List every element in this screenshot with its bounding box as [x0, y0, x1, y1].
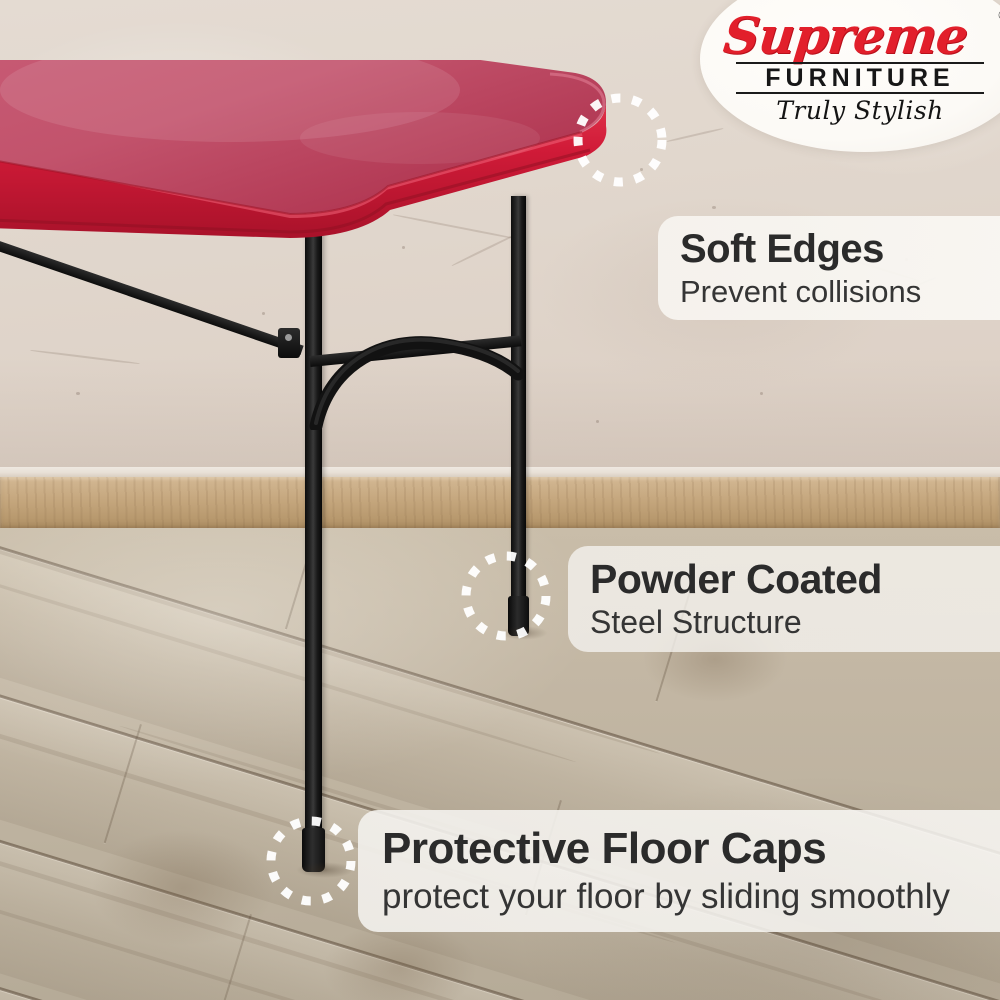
callout-title-soft-edges: Soft Edges [680, 228, 1000, 270]
wall-trim [0, 467, 1000, 477]
callout-subtitle-soft-edges: Prevent collisions [680, 275, 1000, 308]
brand-category-furniture: FURNITURE [736, 64, 984, 93]
logo-divider-bottom [736, 92, 984, 94]
brand-tagline: Truly Stylish [736, 96, 984, 125]
brand-logo-badge: Supreme ® FURNITURE Truly Stylish [700, 0, 1000, 152]
brand-name-supreme: Supreme [721, 6, 1000, 62]
callout-title-floor-caps: Protective Floor Caps [382, 826, 1000, 872]
callout-subtitle-floor-caps: protect your floor by sliding smoothly [382, 878, 1000, 916]
callout-panel-floor-caps: Protective Floor Caps protect your floor… [358, 810, 1000, 932]
callout-panel-soft-edges: Soft Edges Prevent collisions [658, 216, 1000, 320]
callout-title-powder-coated: Powder Coated [590, 558, 1000, 601]
callout-panel-powder-coated: Powder Coated Steel Structure [568, 546, 1000, 652]
product-feature-image: Soft Edges Prevent collisions Powder Coa… [0, 0, 1000, 1000]
wooden-baseboard [0, 477, 1000, 530]
callout-subtitle-powder-coated: Steel Structure [590, 605, 1000, 640]
